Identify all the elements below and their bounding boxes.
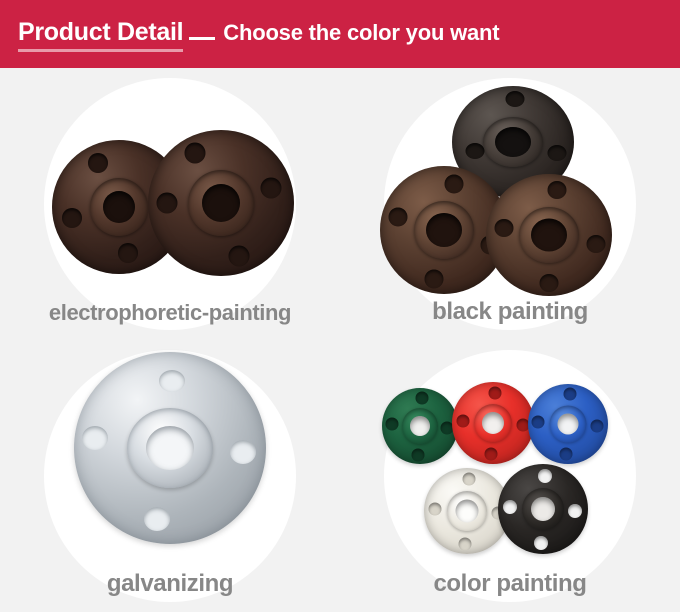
bolt-hole (568, 504, 582, 518)
bolt-hole (228, 245, 249, 266)
bolt-hole (547, 181, 566, 199)
bolt-hole (415, 391, 428, 404)
bolt-hole (547, 145, 566, 161)
gallery-cell-black-painting[interactable]: black painting (340, 68, 680, 340)
bolt-hole (156, 193, 177, 214)
bolt-hole (412, 448, 425, 461)
gallery-cell-electrophoretic[interactable]: electrophoretic-painting (0, 68, 340, 340)
flange-bore (456, 500, 479, 523)
bolt-hole (445, 174, 464, 193)
bolt-hole (456, 415, 469, 428)
bolt-hole (260, 178, 281, 199)
flange-bore (410, 416, 430, 436)
flange-bore (482, 412, 504, 434)
bolt-hole (538, 469, 552, 483)
flange-bore (146, 426, 194, 470)
flange-part (486, 174, 612, 296)
cell-caption: electrophoretic-painting (0, 300, 340, 326)
bolt-hole (563, 388, 576, 401)
flange-part (74, 352, 266, 544)
bolt-hole (586, 235, 605, 253)
bolt-hole (560, 448, 573, 461)
bolt-hole (144, 507, 170, 531)
cell-caption: galvanizing (0, 570, 340, 598)
flange-bore (426, 213, 462, 247)
bolt-hole (506, 91, 525, 107)
page-header-banner: Product Detail Choose the color you want (0, 0, 680, 68)
bolt-hole (82, 426, 108, 450)
page-title-wrap: Product Detail (18, 18, 183, 46)
gallery-cell-color-painting[interactable]: color painting (340, 340, 680, 612)
flange-part-green (382, 388, 458, 464)
flange-bore (202, 184, 240, 222)
page-subtitle: Choose the color you want (223, 19, 499, 47)
flange-bore (558, 414, 579, 435)
bolt-hole (88, 153, 108, 173)
cell-caption: color painting (340, 570, 680, 598)
title-underline (18, 49, 183, 52)
flange-part (148, 130, 294, 276)
bolt-hole (534, 536, 548, 550)
flange-part-blue (528, 384, 608, 464)
bolt-hole (118, 243, 138, 263)
bolt-hole (540, 274, 559, 292)
flange-part-black (498, 464, 588, 554)
bolt-hole (230, 440, 256, 464)
bolt-hole (466, 143, 485, 159)
header-content: Product Detail Choose the color you want (18, 18, 499, 47)
bolt-hole (424, 269, 443, 288)
cell-caption: black painting (340, 298, 680, 326)
bolt-hole (184, 143, 205, 164)
bolt-hole (385, 418, 398, 431)
bolt-hole (590, 419, 603, 432)
flange-bore (531, 219, 567, 252)
bolt-hole (159, 370, 185, 392)
bolt-hole (459, 537, 472, 550)
page-title: Product Detail (18, 18, 183, 46)
product-detail-page: Product Detail Choose the color you want (0, 0, 680, 612)
bolt-hole (532, 416, 545, 429)
bolt-hole (503, 500, 517, 514)
bolt-hole (494, 219, 513, 237)
bolt-hole (429, 503, 442, 516)
flange-bore (495, 127, 531, 157)
bolt-hole (388, 208, 407, 227)
flange-bore (103, 191, 135, 223)
product-gallery-grid: electrophoretic-painting (0, 68, 680, 612)
bolt-hole (462, 473, 475, 486)
bolt-hole (485, 448, 498, 461)
flange-part-red (452, 382, 534, 464)
flange-bore (531, 497, 555, 521)
bolt-hole (62, 208, 82, 228)
title-separator-dash (189, 37, 215, 40)
bolt-hole (488, 386, 501, 399)
gallery-cell-galvanizing[interactable]: galvanizing (0, 340, 340, 612)
